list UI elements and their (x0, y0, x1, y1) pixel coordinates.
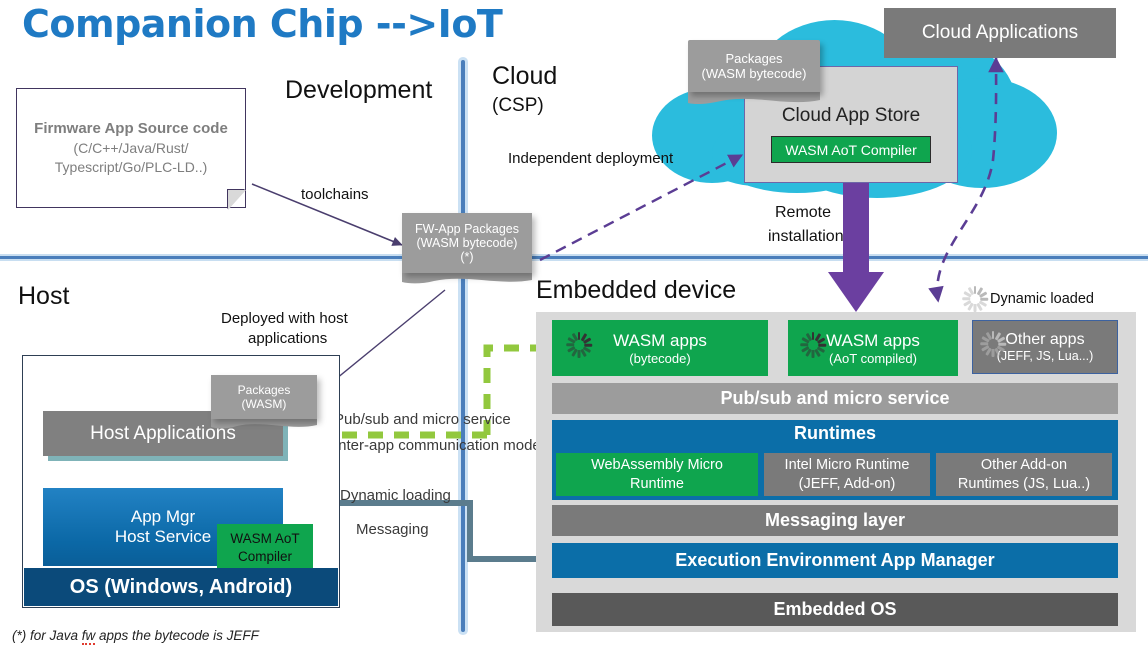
cloud-applications-label: Cloud Applications (922, 22, 1078, 44)
cloud-applications-box[interactable]: Cloud Applications (884, 8, 1116, 58)
embedded-app-manager-label: Execution Environment App Manager (675, 550, 994, 571)
horizontal-divider (0, 256, 1148, 259)
page-fold-icon (228, 190, 246, 210)
host-pkg-l2: (WASM) (242, 397, 287, 411)
app-mgr-l1: App Mgr (131, 507, 195, 527)
wasm-aot-compiler-cloud-label: WASM AoT Compiler (785, 142, 916, 158)
label-inter-app-comm: Inter-app communication models (334, 437, 552, 454)
embedded-app-1-sub: (AoT compiled) (829, 351, 917, 366)
embedded-messaging-label: Messaging layer (765, 510, 905, 531)
dynamic-loaded-icon (566, 332, 592, 358)
label-deployed-2: applications (248, 330, 327, 347)
embedded-runtime-2-l2: Runtimes (JS, Lua..) (958, 475, 1090, 493)
fw-pkg-l3: (*) (460, 250, 473, 264)
section-heading-embedded-device: Embedded device (536, 276, 736, 305)
cloud-packages-l1: Packages (725, 51, 782, 66)
dynamic-loaded-legend-icon (962, 286, 988, 312)
vertical-divider (461, 60, 465, 632)
embedded-runtime-2-l1: Other Add-on (981, 456, 1067, 474)
embedded-runtime-2[interactable]: Other Add-on Runtimes (JS, Lua..) (936, 453, 1112, 496)
app-mgr-l2: Host Service (115, 527, 211, 547)
embedded-app-1-name: WASM apps (826, 331, 920, 351)
section-heading-development: Development (285, 76, 432, 105)
embedded-runtime-0-l2: Runtime (630, 475, 684, 493)
wasm-aot-host-l1: WASM AoT (230, 530, 299, 548)
firmware-source-box: Firmware App Source code (C/C++/Java/Rus… (16, 88, 246, 208)
embedded-runtime-1-l1: Intel Micro Runtime (785, 456, 910, 474)
dynamic-loaded-icon (980, 331, 1006, 357)
embedded-app-2-name: Other apps (1005, 331, 1084, 349)
section-heading-cloud: Cloud (492, 62, 557, 91)
embedded-app-2-sub: (JEFF, JS, Lua...) (997, 349, 1094, 363)
host-os-label: OS (Windows, Android) (70, 576, 292, 599)
firmware-langs-2: Typescript/Go/PLC-LD..) (55, 158, 208, 177)
fw-pkg-l1: FW-App Packages (415, 222, 519, 236)
label-dynamic-loading: Dynamic loading (340, 487, 451, 504)
embedded-app-0-sub: (bytecode) (629, 351, 690, 366)
embedded-messaging-layer: Messaging layer (552, 505, 1118, 536)
firmware-langs-1: (C/C++/Java/Rust/ (73, 139, 188, 158)
embedded-os-label: Embedded OS (773, 599, 896, 620)
footnote-pre: (*) for Java (12, 628, 82, 643)
footnote-sq: fw (82, 628, 96, 645)
label-dynamic-loaded: Dynamic loaded (990, 291, 1094, 307)
page-title: Companion Chip -->IoT (22, 2, 662, 46)
label-independent-deployment: Independent deployment (508, 150, 673, 167)
label-pubsub-micro-service: Pub/sub and micro service (334, 411, 511, 428)
label-remote-1: Remote (775, 204, 831, 222)
fw-pkg-l2: (WASM bytecode) (417, 236, 518, 250)
embedded-runtime-1-l2: (JEFF, Add-on) (799, 475, 896, 493)
section-heading-host: Host (18, 282, 69, 311)
embedded-runtime-0[interactable]: WebAssembly Micro Runtime (556, 453, 758, 496)
dynamic-loaded-icon (800, 332, 826, 358)
cloud-packages-l2: (WASM bytecode) (702, 66, 807, 81)
wasm-aot-compiler-cloud[interactable]: WASM AoT Compiler (771, 136, 931, 163)
embedded-app-0-name: WASM apps (613, 331, 707, 351)
wasm-aot-compiler-host[interactable]: WASM AoT Compiler (217, 524, 313, 572)
footnote: (*) for Java fw apps the bytecode is JEF… (12, 628, 259, 643)
cloud-app-store-title: Cloud App Store (745, 105, 957, 127)
label-toolchains: toolchains (301, 186, 369, 203)
callout-cloud-packages: Packages (WASM bytecode) (688, 40, 820, 107)
host-pkg-l1: Packages (238, 383, 291, 397)
embedded-runtime-0-l1: WebAssembly Micro (591, 456, 723, 474)
label-messaging: Messaging (356, 521, 429, 538)
wasm-aot-host-l2: Compiler (238, 548, 292, 566)
label-deployed-1: Deployed with host (221, 310, 348, 327)
embedded-os: Embedded OS (552, 593, 1118, 626)
callout-host-packages: Packages (WASM) (211, 375, 317, 431)
embedded-runtime-1[interactable]: Intel Micro Runtime (JEFF, Add-on) (764, 453, 930, 496)
footnote-post: apps the bytecode is JEFF (95, 628, 259, 643)
embedded-runtimes-title: Runtimes (552, 420, 1118, 444)
host-os-box: OS (Windows, Android) (24, 568, 338, 606)
embedded-pubsub-layer: Pub/sub and micro service (552, 383, 1118, 414)
callout-fw-app-packages: FW-App Packages (WASM bytecode) (*) (402, 213, 532, 286)
section-subheading-csp: (CSP) (492, 95, 544, 117)
firmware-title: Firmware App Source code (34, 119, 228, 139)
label-remote-2: installation (768, 228, 844, 246)
embedded-app-manager: Execution Environment App Manager (552, 543, 1118, 578)
embedded-pubsub-label: Pub/sub and micro service (720, 388, 949, 409)
